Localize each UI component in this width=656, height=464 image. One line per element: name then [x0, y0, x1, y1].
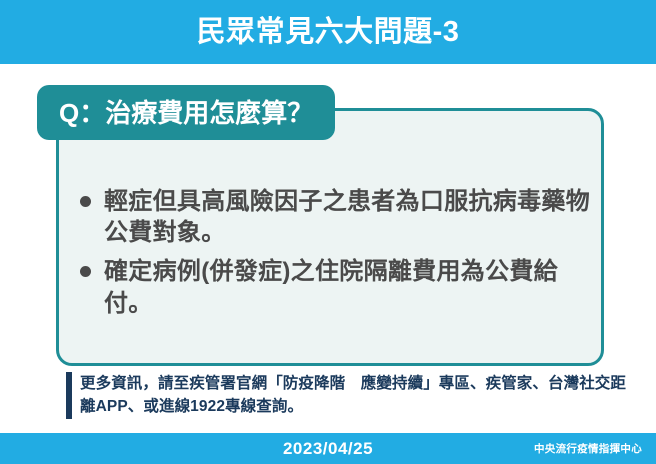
question-pill: Q：治療費用怎麼算？	[37, 85, 335, 140]
more-info-note: 更多資訊，請至疾管署官網「防疫降階 應變持續」專區、疾管家、台灣社交距離APP、…	[66, 372, 626, 419]
question-label: Q：治療費用怎麼算？	[59, 100, 313, 126]
page-footer-bar: 2023/04/25 中央流行疫情指揮中心	[0, 433, 656, 464]
page-header-bar: 民眾常見六大問題-3	[0, 0, 656, 64]
note-accent-bar-icon	[66, 372, 72, 419]
footer-organization: 中央流行疫情指揮中心	[534, 433, 642, 464]
list-item: 輕症但具高風險因子之患者為口服抗病毒藥物公費對象。	[80, 186, 590, 248]
list-item-text: 輕症但具高風險因子之患者為口服抗病毒藥物公費對象。	[104, 186, 590, 248]
list-item-text: 確定病例(併發症)之住院隔離費用為公費給付。	[104, 256, 590, 318]
answer-bullet-list: 輕症但具高風險因子之患者為口服抗病毒藥物公費對象。 確定病例(併發症)之住院隔離…	[80, 186, 590, 327]
page-title: 民眾常見六大問題-3	[197, 18, 460, 47]
bullet-dot-icon	[80, 266, 91, 277]
list-item: 確定病例(併發症)之住院隔離費用為公費給付。	[80, 256, 590, 318]
bullet-dot-icon	[80, 196, 91, 207]
more-info-note-text: 更多資訊，請至疾管署官網「防疫降階 應變持續」專區、疾管家、台灣社交距離APP、…	[80, 372, 626, 419]
